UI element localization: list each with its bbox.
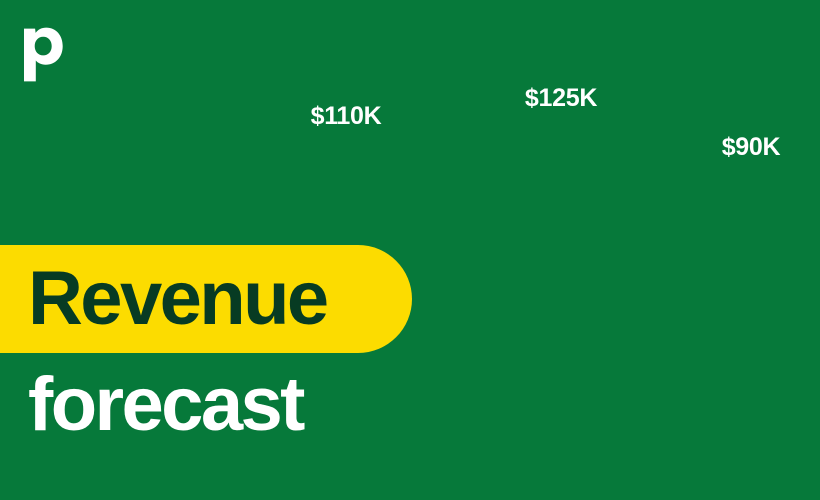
- bar-column-2: $125K: [483, 118, 639, 367]
- logo-glyph-icon: [24, 24, 66, 82]
- revenue-forecast-graphic: $110K $125K $90K Revenue forecast: [0, 0, 820, 500]
- bar-value-label-1: $110K: [268, 104, 424, 129]
- pipedrive-p-logo-icon: [24, 24, 66, 82]
- bar-column-3: $90K: [698, 167, 820, 367]
- headline-line-1: Revenue: [28, 252, 327, 346]
- bar-value-label-2: $125K: [483, 86, 639, 111]
- bar-value-label-3: $90K: [690, 135, 812, 160]
- headline-line-2: forecast: [28, 358, 303, 452]
